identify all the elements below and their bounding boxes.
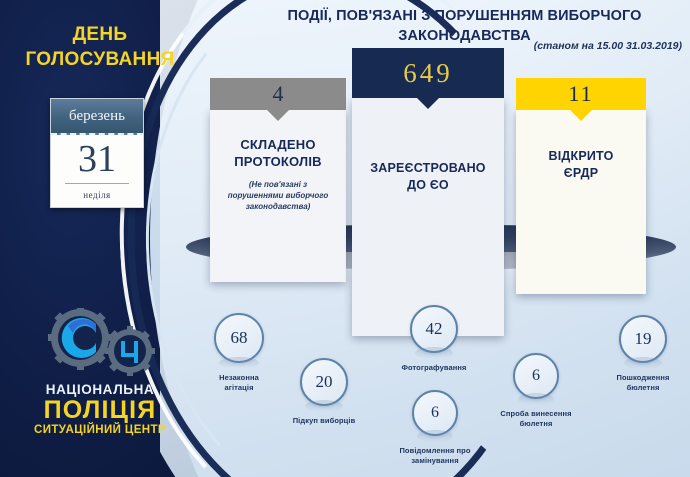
stat-bubble-value: 20 bbox=[300, 358, 348, 406]
stat-card-registered-body: ЗАРЕЄСТРОВАНО ДО ЄО bbox=[352, 98, 504, 336]
day-title-line1: ДЕНЬ bbox=[0, 22, 200, 47]
stat-bubble-illegal-campaigning: 68 Незаконна агітація bbox=[199, 313, 279, 393]
stat-card-protocols-note: (Не пов'язані з порушеннями виборчого за… bbox=[210, 179, 346, 212]
logo-line-3: СИТУАЦІЙНИЙ ЦЕНТР bbox=[0, 424, 200, 436]
stat-card-erdr-label: ВІДКРИТО ЄРДР bbox=[516, 148, 646, 182]
stat-bubble-ballot-damage: 19 Пошкодження бюлетня bbox=[600, 315, 686, 393]
police-logo: НАЦІОНАЛЬНА ПОЛІЦІЯ СИТУАЦІЙНИЙ ЦЕНТР bbox=[0, 308, 200, 436]
stat-bubble-value: 42 bbox=[410, 305, 458, 353]
stat-bubble-value: 19 bbox=[619, 315, 667, 363]
day-title-line2: ГОЛОСУВАННЯ bbox=[0, 47, 200, 72]
stat-card-registered-header: 649 bbox=[352, 48, 504, 98]
calendar-weekday: неділя bbox=[51, 184, 143, 200]
stat-card-protocols-body: СКЛАДЕНО ПРОТОКОЛІВ (Не пов'язані з пору… bbox=[210, 110, 346, 282]
stat-bubble-caption: Фотографування bbox=[390, 363, 478, 373]
stat-card-registered: 649 ЗАРЕЄСТРОВАНО ДО ЄО bbox=[352, 48, 504, 336]
stat-card-erdr: 11 ВІДКРИТО ЄРДР bbox=[516, 78, 646, 294]
stat-bubble-mining-report: 6 Повідомлення про замінування bbox=[392, 390, 478, 466]
stat-card-protocols-header: 4 bbox=[210, 78, 346, 110]
stat-card-erdr-body: ВІДКРИТО ЄРДР bbox=[516, 110, 646, 294]
situational-center-gears-icon bbox=[34, 308, 166, 380]
stat-card-protocols-label: СКЛАДЕНО ПРОТОКОЛІВ bbox=[210, 136, 346, 170]
stat-bubble-caption: Незаконна агітація bbox=[199, 373, 279, 393]
stat-card-protocols-label-line2: ПРОТОКОЛІВ bbox=[210, 153, 346, 170]
notch-triangle-icon bbox=[417, 98, 439, 109]
notch-triangle-icon bbox=[570, 110, 592, 121]
stat-card-protocols: 4 СКЛАДЕНО ПРОТОКОЛІВ (Не пов'язані з по… bbox=[210, 78, 346, 282]
page-title-line1: ПОДІЇ, ПОВ'ЯЗАНІ З ПОРУШЕННЯМ ВИБОРЧОГО bbox=[252, 6, 677, 26]
day-title: ДЕНЬ ГОЛОСУВАННЯ bbox=[0, 22, 200, 72]
calendar-day: 31 bbox=[51, 135, 143, 183]
stat-bubble-voter-bribery: 20 Підкуп виборців bbox=[281, 358, 367, 426]
stat-card-registered-label-line1: ЗАРЕЄСТРОВАНО bbox=[352, 160, 504, 177]
stat-card-registered-value: 649 bbox=[403, 58, 453, 88]
stat-bubble-caption: Підкуп виборців bbox=[281, 416, 367, 426]
stat-card-registered-label: ЗАРЕЄСТРОВАНО ДО ЄО bbox=[352, 160, 504, 194]
stat-card-protocols-value: 4 bbox=[273, 81, 284, 106]
logo-line-2: ПОЛІЦІЯ bbox=[0, 397, 200, 424]
stat-bubble-value: 68 bbox=[214, 313, 264, 363]
stat-bubble-ballot-removal: 6 Спроба винесення бюлетня bbox=[492, 353, 580, 429]
calendar-widget: березень 31 неділя bbox=[50, 98, 144, 208]
notch-triangle-icon bbox=[267, 110, 289, 121]
stat-card-protocols-label-line1: СКЛАДЕНО bbox=[210, 136, 346, 153]
stat-card-erdr-label-line2: ЄРДР bbox=[516, 165, 646, 182]
stat-bubble-photographing: 42 Фотографування bbox=[390, 305, 478, 373]
calendar-month: березень bbox=[51, 99, 143, 135]
stat-bubble-caption: Пошкодження бюлетня bbox=[600, 373, 686, 393]
stat-card-erdr-header: 11 bbox=[516, 78, 646, 110]
stat-card-registered-label-line2: ДО ЄО bbox=[352, 177, 504, 194]
stat-card-erdr-label-line1: ВІДКРИТО bbox=[516, 148, 646, 165]
stat-card-erdr-value: 11 bbox=[568, 81, 593, 106]
infographic-canvas: ДЕНЬ ГОЛОСУВАННЯ березень 31 неділя bbox=[0, 0, 690, 477]
stat-bubble-caption: Спроба винесення бюлетня bbox=[492, 409, 580, 429]
stat-bubble-caption: Повідомлення про замінування bbox=[392, 446, 478, 466]
logo-line-1: НАЦІОНАЛЬНА bbox=[0, 382, 200, 397]
